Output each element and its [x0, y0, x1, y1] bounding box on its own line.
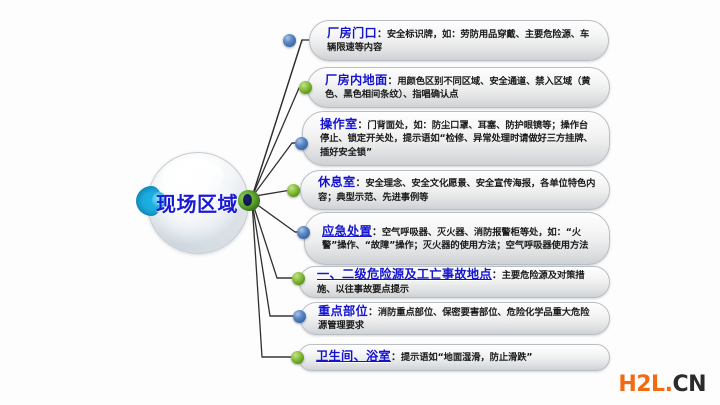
watermark: H2L.CN	[618, 372, 706, 397]
branch-title-2: 厂房内地面	[325, 73, 387, 87]
branch-bullet-3[interactable]	[295, 137, 308, 150]
branch-box-8[interactable]: 卫生间、浴室：提示语如“地面湿滑，防止滑跌”	[298, 344, 610, 371]
branch-text-7: 重点部位：消防重点部位、保密要害部位、危险化学品重大危险源管理要求	[318, 305, 596, 333]
branch-text-6: 一、二级危险源及工亡事故地点：主要危险源及对策措施、以往事故要点提示	[317, 268, 596, 296]
branch-colon-6: ：	[492, 270, 502, 281]
branch-title-4: 休息室	[318, 175, 355, 189]
branch-title-5: 应急处置	[322, 224, 372, 238]
branch-title-3: 操作室	[320, 117, 357, 131]
branch-bullet-8[interactable]	[291, 351, 304, 364]
branch-text-3: 操作室：门背面处，如：防尘口罩、耳塞、防护眼镜等；操作台停止、锁定开关处，提示语…	[320, 118, 596, 159]
branch-colon-7: ：	[368, 307, 378, 318]
branch-box-3[interactable]: 操作室：门背面处，如：防尘口罩、耳塞、防护眼镜等；操作台停止、锁定开关处，提示语…	[302, 111, 610, 166]
branch-box-1[interactable]: 厂房门口：安全标识牌，如：劳防用品穿戴、主要危险源、车辆限速等内容	[309, 20, 609, 61]
branch-colon-2: ：	[387, 76, 397, 87]
branch-text-1: 厂房门口：安全标识牌，如：劳防用品穿戴、主要危险源、车辆限速等内容	[327, 27, 595, 55]
branch-bullet-6[interactable]	[292, 272, 305, 285]
branch-title-6: 一、二级危险源及工亡事故地点	[317, 267, 492, 281]
branch-bullet-5[interactable]	[297, 226, 310, 239]
branch-colon-8: ：	[391, 352, 401, 363]
branch-colon-3: ：	[357, 120, 367, 131]
mindmap-canvas: 现场区域 厂房门口：安全标识牌，如：劳防用品穿戴、主要危险源、车辆限速等内容 厂…	[0, 0, 720, 405]
branch-text-5: 应急处置：空气呼吸器、灭火器、消防报警柜等处，如：“火警”操作、“故障”操作；灭…	[322, 225, 596, 253]
branch-box-5[interactable]: 应急处置：空气呼吸器、灭火器、消防报警柜等处，如：“火警”操作、“故障”操作；灭…	[304, 212, 610, 265]
center-label: 现场区域	[147, 152, 247, 252]
branch-text-2: 厂房内地面：用颜色区别不同区域、安全通道、禁入区域（黄色、黑色相间条纹）、指唱确…	[325, 74, 596, 102]
branch-box-7[interactable]: 重点部位：消防重点部位、保密要害部位、危险化学品重大危险源管理要求	[300, 302, 610, 335]
branch-title-8: 卫生间、浴室	[316, 349, 391, 363]
branch-title-1: 厂房门口	[327, 26, 377, 40]
branch-bullet-7[interactable]	[293, 310, 306, 323]
watermark-secondary: CN	[672, 372, 706, 397]
branch-bullet-4[interactable]	[287, 184, 300, 197]
branch-bullet-2[interactable]	[299, 81, 312, 94]
branch-bullet-1[interactable]	[283, 34, 296, 47]
branch-box-6[interactable]: 一、二级危险源及工亡事故地点：主要危险源及对策措施、以往事故要点提示	[299, 266, 610, 298]
branch-text-4: 休息室：安全理念、安全文化愿景、安全宣传海报，各单位特色内容；典型示范、先进事例…	[318, 176, 596, 204]
watermark-primary: H2L.	[618, 372, 672, 397]
branch-colon-4: ：	[355, 178, 365, 189]
branch-box-4[interactable]: 休息室：安全理念、安全文化愿景、安全宣传海报，各单位特色内容；典型示范、先进事例…	[300, 170, 610, 210]
branch-text-8: 卫生间、浴室：提示语如“地面湿滑，防止滑跌”	[316, 350, 532, 364]
branch-box-2[interactable]: 厂房内地面：用颜色区别不同区域、安全通道、禁入区域（黄色、黑色相间条纹）、指唱确…	[307, 67, 610, 108]
branch-body-8: 提示语如“地面湿滑，防止滑跌”	[401, 352, 533, 363]
branch-title-7: 重点部位	[318, 304, 368, 318]
branch-colon-1: ：	[377, 29, 387, 40]
branch-colon-5: ：	[372, 227, 382, 238]
center-node[interactable]: 现场区域	[138, 152, 256, 252]
